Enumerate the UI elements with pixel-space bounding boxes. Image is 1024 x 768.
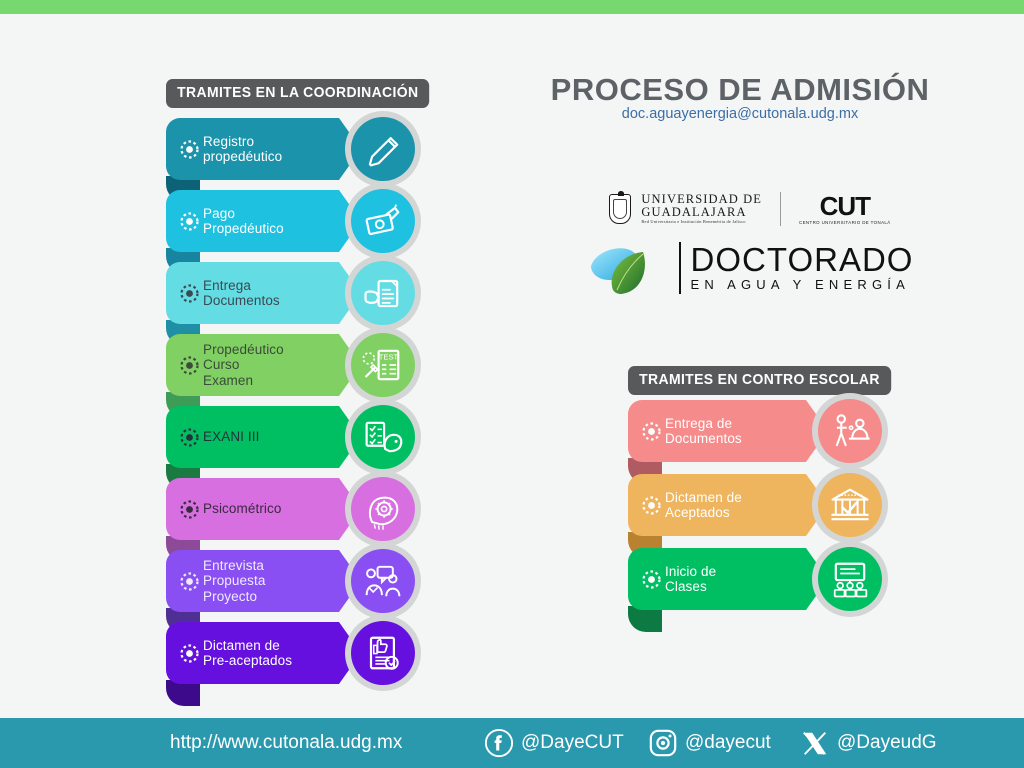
test-sheet-icon: TEST bbox=[351, 333, 415, 397]
bullet-target-icon bbox=[180, 428, 199, 447]
interview-chat-icon bbox=[351, 549, 415, 613]
bullet-target-icon bbox=[642, 570, 661, 589]
step-icon-badge[interactable] bbox=[345, 615, 421, 691]
process-step[interactable]: Inicio de Clases bbox=[628, 548, 898, 610]
checklist-head-icon bbox=[351, 405, 415, 469]
udg-cut-logos: UNIVERSIDAD DE GUADALAJARA Red Universit… bbox=[580, 192, 920, 226]
website-url[interactable]: http://www.cutonala.udg.mx bbox=[170, 732, 402, 754]
step-icon-badge[interactable] bbox=[812, 467, 888, 543]
logo-divider bbox=[780, 192, 781, 226]
step-label: Pago Propedéutico bbox=[203, 206, 284, 237]
pencil-icon bbox=[351, 117, 415, 181]
brain-gear-icon bbox=[351, 477, 415, 541]
social-x[interactable]: @DayeudG bbox=[800, 728, 937, 758]
step-label: Registro propedéutico bbox=[203, 134, 282, 165]
leaf-water-icon bbox=[587, 240, 675, 296]
process-step[interactable]: Entrega Documentos bbox=[166, 262, 431, 324]
ribbon-banner[interactable]: Inicio de Clases bbox=[628, 548, 828, 610]
facebook-icon bbox=[484, 728, 514, 758]
logo-block: UNIVERSIDAD DE GUADALAJARA Red Universit… bbox=[580, 192, 920, 296]
step-icon-badge[interactable] bbox=[345, 183, 421, 259]
step-label: Propedéutico Curso Examen bbox=[203, 342, 284, 389]
bullet-target-icon bbox=[180, 500, 199, 519]
step-icon-badge[interactable] bbox=[345, 399, 421, 475]
x-twitter-icon bbox=[800, 728, 830, 758]
process-step[interactable]: Entrega de Documentos bbox=[628, 400, 898, 462]
instagram-icon bbox=[648, 728, 678, 758]
ribbon-banner[interactable]: Dictamen de Aceptados bbox=[628, 474, 828, 536]
right-section-header: TRAMITES EN CONTRO ESCOLAR bbox=[628, 366, 891, 395]
contact-email[interactable]: doc.aguayenergia@cutonala.udg.mx bbox=[520, 106, 960, 122]
social-instagram[interactable]: @dayecut bbox=[648, 728, 771, 758]
process-step[interactable]: EXANI III bbox=[166, 406, 431, 468]
classroom-icon bbox=[818, 547, 882, 611]
doctorado-line2: EN AGUA Y ENERGÍA bbox=[691, 277, 914, 293]
bullet-target-icon bbox=[180, 644, 199, 663]
thumbs-up-doc-icon bbox=[351, 621, 415, 685]
step-label: EXANI III bbox=[203, 429, 259, 445]
cut-logo: CUT CENTRO UNIVERSITARIO DE TONALÁ bbox=[799, 193, 891, 225]
top-accent-bar bbox=[0, 0, 1024, 14]
step-label: Entrevista Propuesta Proyecto bbox=[203, 558, 265, 605]
step-icon-badge[interactable] bbox=[812, 541, 888, 617]
doctorado-logo: DOCTORADO EN AGUA Y ENERGÍA bbox=[580, 240, 920, 296]
step-icon-badge[interactable] bbox=[812, 393, 888, 469]
ribbon-banner[interactable]: Pago Propedéutico bbox=[166, 190, 361, 252]
institution-check-icon bbox=[818, 473, 882, 537]
svg-text:TEST: TEST bbox=[379, 353, 399, 362]
facebook-handle: @DayeCUT bbox=[521, 732, 624, 754]
udg-line2: GUADALAJARA bbox=[641, 206, 762, 219]
udg-wordmark: UNIVERSIDAD DE GUADALAJARA Red Universit… bbox=[641, 193, 762, 225]
process-step[interactable]: Pago Propedéutico bbox=[166, 190, 431, 252]
process-step[interactable]: Dictamen de Aceptados bbox=[628, 474, 898, 536]
doctorado-wordmark: DOCTORADO EN AGUA Y ENERGÍA bbox=[691, 244, 914, 293]
process-step[interactable]: Registro propedéutico bbox=[166, 118, 431, 180]
ribbon-banner[interactable]: Propedéutico Curso Examen bbox=[166, 334, 361, 396]
bullet-target-icon bbox=[180, 284, 199, 303]
ribbon-banner[interactable]: Entrega Documentos bbox=[166, 262, 361, 324]
ribbon-banner[interactable]: Dictamen de Pre-aceptados bbox=[166, 622, 361, 684]
step-icon-badge[interactable] bbox=[345, 543, 421, 619]
doctorado-line1: DOCTORADO bbox=[691, 244, 914, 276]
udg-crest-icon bbox=[609, 194, 631, 224]
step-label: Entrega de Documentos bbox=[665, 416, 742, 447]
ribbon-banner[interactable]: Psicométrico bbox=[166, 478, 361, 540]
bullet-target-icon bbox=[180, 212, 199, 231]
left-section-header: TRAMITES EN LA COORDINACIÓN bbox=[166, 79, 430, 108]
bullet-target-icon bbox=[642, 496, 661, 515]
bullet-target-icon bbox=[180, 356, 199, 375]
person-desk-icon bbox=[818, 399, 882, 463]
x-handle: @DayeudG bbox=[837, 732, 937, 754]
cut-wordmark: CUT bbox=[799, 193, 891, 219]
bullet-target-icon bbox=[642, 422, 661, 441]
step-label: Entrega Documentos bbox=[203, 278, 280, 309]
social-facebook[interactable]: @DayeCUT bbox=[484, 728, 624, 758]
infographic-page: TRAMITES EN LA COORDINACIÓN Registro pro… bbox=[0, 0, 1024, 768]
cut-subtitle: CENTRO UNIVERSITARIO DE TONALÁ bbox=[799, 220, 891, 225]
ribbon-banner[interactable]: Entrevista Propuesta Proyecto bbox=[166, 550, 361, 612]
step-icon-badge[interactable] bbox=[345, 111, 421, 187]
step-label: Dictamen de Pre-aceptados bbox=[203, 638, 292, 669]
step-label: Psicométrico bbox=[203, 501, 281, 517]
step-icon-badge[interactable] bbox=[345, 255, 421, 331]
instagram-handle: @dayecut bbox=[685, 732, 771, 754]
process-step[interactable]: Propedéutico Curso ExamenTEST bbox=[166, 334, 431, 396]
step-label: Inicio de Clases bbox=[665, 564, 716, 595]
bullet-target-icon bbox=[180, 572, 199, 591]
step-label: Dictamen de Aceptados bbox=[665, 490, 742, 521]
step-icon-badge[interactable] bbox=[345, 471, 421, 547]
udg-line3: Red Universitaria e Institución Beneméri… bbox=[641, 220, 762, 225]
bullet-target-icon bbox=[180, 140, 199, 159]
footer-bar: http://www.cutonala.udg.mx @DayeCUT @day… bbox=[0, 718, 1024, 768]
process-step[interactable]: Dictamen de Pre-aceptados bbox=[166, 622, 431, 684]
ribbon-banner[interactable]: Entrega de Documentos bbox=[628, 400, 828, 462]
process-step[interactable]: Entrevista Propuesta Proyecto bbox=[166, 550, 431, 612]
hand-document-icon bbox=[351, 261, 415, 325]
page-title: PROCESO DE ADMISIÓN bbox=[520, 72, 960, 108]
ribbon-banner[interactable]: Registro propedéutico bbox=[166, 118, 361, 180]
process-step[interactable]: Psicométrico bbox=[166, 478, 431, 540]
doctorado-divider bbox=[679, 242, 681, 294]
money-hand-icon bbox=[351, 189, 415, 253]
ribbon-banner[interactable]: EXANI III bbox=[166, 406, 361, 468]
step-icon-badge[interactable]: TEST bbox=[345, 327, 421, 403]
